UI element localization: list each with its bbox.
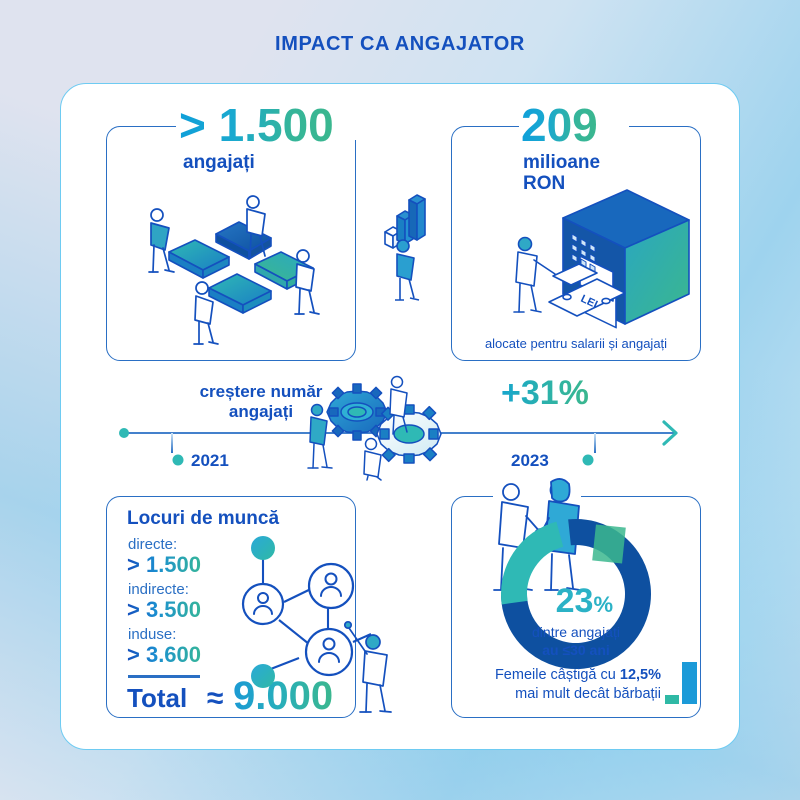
donut-line1: dintre angajați	[516, 624, 636, 640]
employees-value: > 1.500	[179, 102, 334, 148]
infographic-title: IMPACT CA ANGAJATOR	[0, 33, 800, 56]
person-pointing-illustration	[343, 612, 403, 720]
pay-gap-line1-pre: Femeile câștigă cu	[495, 667, 620, 683]
atm-machine-illustration: LEI	[501, 184, 701, 329]
main-panel: > 1.500 angajați	[60, 83, 740, 750]
jobs-row-1-key: indirecte:	[128, 581, 189, 598]
jobs-row-0-value: > 1.500	[127, 554, 201, 576]
donut-percent: 23%	[541, 584, 613, 618]
gears-people-illustration	[299, 372, 469, 482]
people-puzzle-illustration	[121, 192, 341, 347]
money-value: 209	[521, 102, 598, 148]
jobs-row-2-value: > 3.600	[127, 644, 201, 666]
pay-gap-bars-icon	[665, 662, 699, 704]
jobs-total-label: Total	[127, 683, 187, 714]
money-label-line1: milioane	[523, 152, 600, 173]
employees-label: angajați	[183, 152, 255, 173]
timeline-growth: +31%	[501, 376, 589, 410]
donut-percent-value: 23	[556, 582, 594, 620]
donut-line2: au ≤30 ani	[516, 642, 636, 658]
jobs-row-0-key: directe:	[128, 536, 177, 553]
pay-gap-highlight: 12,5%	[620, 667, 661, 683]
jobs-divider	[128, 675, 200, 678]
person-barchart-illustration	[373, 184, 443, 304]
timeline-year-end: 2023	[511, 451, 549, 471]
jobs-row-2-key: induse:	[128, 626, 176, 643]
pay-gap-text: Femeile câștigă cu 12,5% mai mult decât …	[461, 666, 661, 704]
donut-percent-unit: %	[593, 592, 613, 617]
money-footnote: alocate pentru salarii și angajați	[471, 336, 681, 351]
jobs-row-1-value: > 3.500	[127, 599, 201, 621]
pay-gap-line2: mai mult decât bărbații	[515, 686, 661, 702]
timeline-year-start: 2021	[191, 451, 229, 471]
